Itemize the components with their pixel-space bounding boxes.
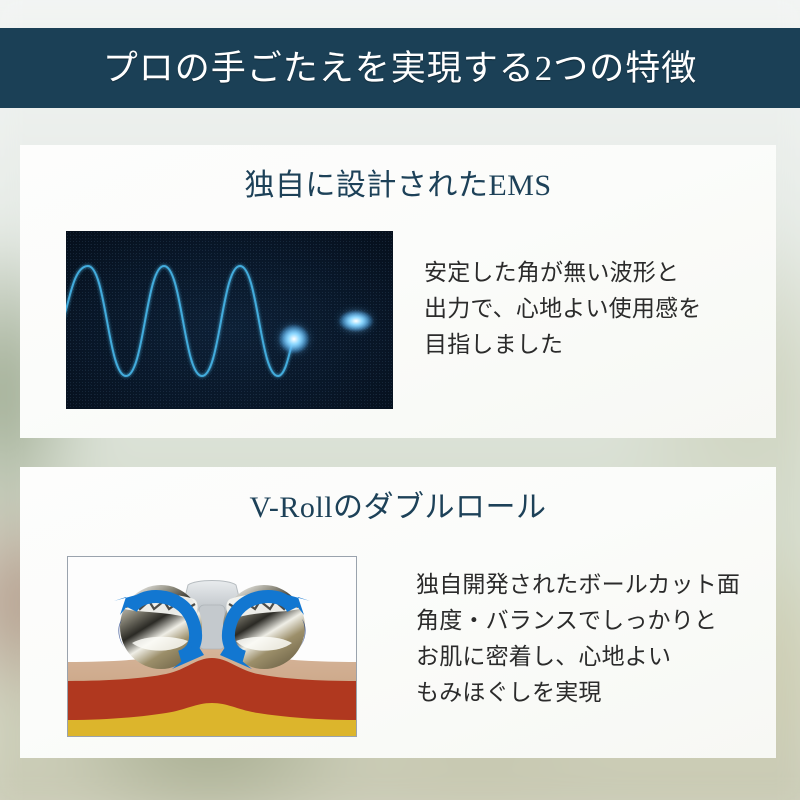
waveform-glow-dot-lower bbox=[278, 324, 310, 354]
feature-card-v-roll-title: V-Rollのダブルロール bbox=[20, 493, 776, 523]
waveform-glow-dot-right bbox=[338, 310, 374, 332]
device-neck bbox=[199, 605, 225, 649]
page-title: プロの手ごたえを実現する2つの特徴 bbox=[103, 51, 698, 86]
section-header-banner: プロの手ごたえを実現する2つの特徴 bbox=[0, 28, 800, 108]
waveform-graphic bbox=[66, 231, 393, 409]
double-roller-cross-section-image bbox=[67, 556, 357, 737]
page-root: プロの手ごたえを実現する2つの特徴 独自に設計されたEMS bbox=[0, 0, 800, 800]
feature-card-v-roll: V-Rollのダブルロール bbox=[20, 467, 776, 758]
feature-card-v-roll-body: 独自開発されたボールカット面 角度・バランスでしっかりと お肌に密着し、心地よい… bbox=[416, 567, 740, 711]
feature-card-ems-body: 安定した角が無い波形と 出力で、心地よい使用感を 目指しました bbox=[424, 255, 701, 363]
feature-card-ems-title: 独自に設計されたEMS bbox=[20, 171, 776, 201]
oscilloscope-waveform-image bbox=[66, 231, 393, 409]
roller-skin-graphic bbox=[68, 557, 356, 736]
feature-card-ems: 独自に設計されたEMS bbox=[20, 145, 776, 438]
